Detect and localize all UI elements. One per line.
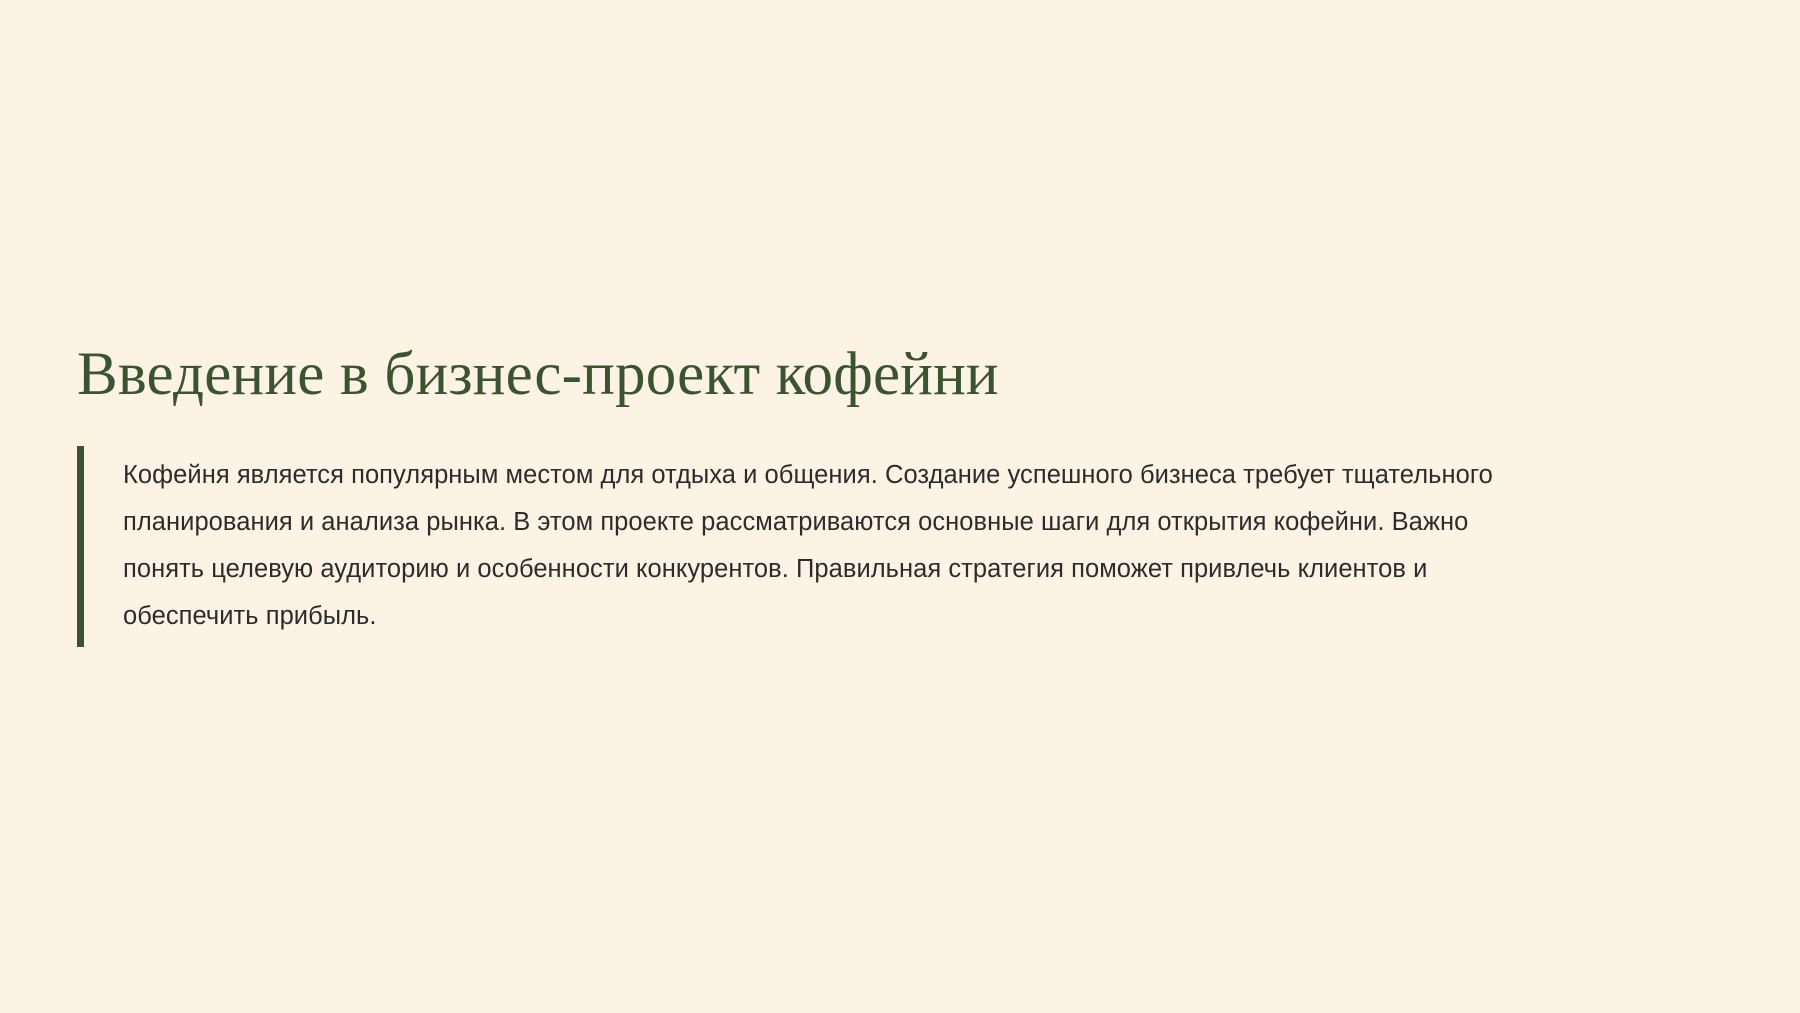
slide-content: Введение в бизнес-проект кофейни Кофейня… [77,340,1727,647]
body-callout-block: Кофейня является популярным местом для о… [77,446,1727,647]
page-title: Введение в бизнес-проект кофейни [77,340,1727,410]
slide-canvas: Введение в бизнес-проект кофейни Кофейня… [0,0,1800,1013]
body-paragraph: Кофейня является популярным местом для о… [123,446,1528,647]
accent-bar [77,446,84,647]
